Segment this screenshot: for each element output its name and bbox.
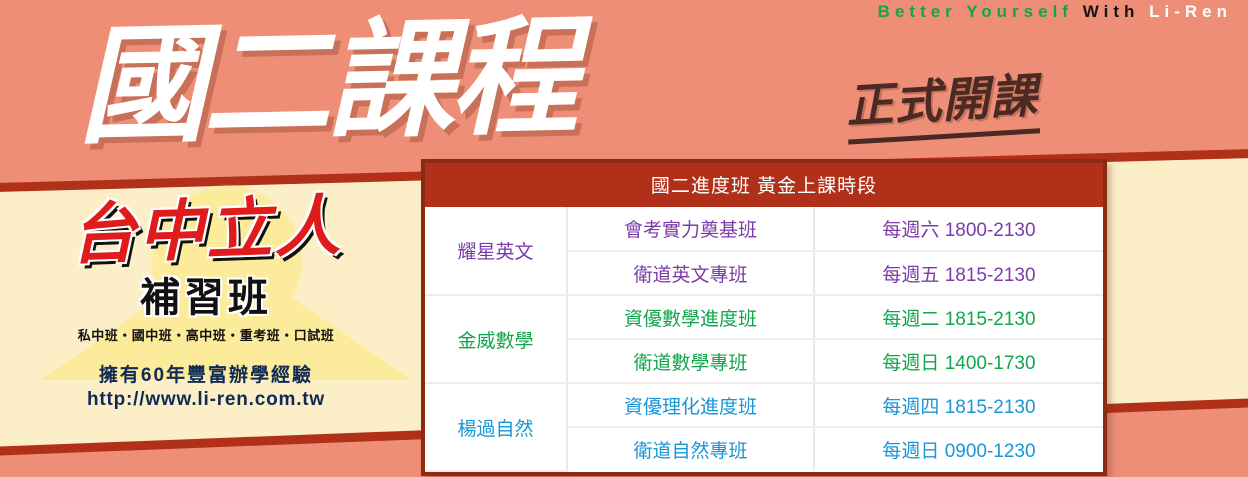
promo-banner: Better Yourself With Li-Ren 國二課程 正式開課 台中… (0, 0, 1248, 477)
school-logo-block: 台中立人 補習班 私中班・國中班・高中班・重考班・口試班 擁有60年豐富辦學經驗… (32, 196, 380, 411)
schedule-panel: 國二進度班 黃金上課時段 耀星英文會考實力奠基班每週六 1800-2130衛道英… (421, 159, 1107, 476)
logo-experience-text: 擁有60年豐富辦學經驗 (32, 360, 380, 387)
logo-class-tags: 私中班・國中班・高中班・重考班・口試班 (32, 325, 380, 344)
slogan-part-black: With (1083, 2, 1140, 21)
table-row: 金威數學資優數學進度班每週二 1815-2130 (425, 295, 1103, 339)
schedule-table: 耀星英文會考實力奠基班每週六 1800-2130衛道英文專班每週五 1815-2… (425, 207, 1103, 472)
course-name-cell: 資優數學進度班 (567, 295, 814, 339)
course-time-cell: 每週二 1815-2130 (814, 295, 1103, 339)
slogan-part-green: Better Yourself (878, 2, 1073, 21)
course-time-cell: 每週六 1800-2130 (814, 207, 1103, 251)
subject-cell: 楊過自然 (425, 383, 567, 471)
subject-cell: 耀星英文 (425, 207, 567, 295)
course-name-cell: 會考實力奠基班 (567, 207, 814, 251)
headline-subtitle: 正式開課 (844, 56, 1040, 144)
schedule-header-title: 國二進度班 黃金上課時段 (425, 163, 1103, 207)
logo-website-url[interactable]: http://www.li-ren.com.tw (32, 389, 380, 411)
headline-title: 國二課程 (77, 11, 576, 156)
logo-name-sub: 補習班 (32, 265, 380, 323)
table-row: 楊過自然資優理化進度班每週四 1815-2130 (425, 383, 1103, 427)
course-name-cell: 衛道自然專班 (567, 427, 814, 471)
course-time-cell: 每週日 0900-1230 (814, 427, 1103, 471)
course-time-cell: 每週四 1815-2130 (814, 383, 1103, 427)
logo-name-main: 台中立人 (31, 190, 381, 273)
course-time-cell: 每週日 1400-1730 (814, 339, 1103, 383)
slogan-part-white: Li-Ren (1149, 2, 1232, 21)
course-name-cell: 衛道數學專班 (567, 339, 814, 383)
course-name-cell: 衛道英文專班 (567, 251, 814, 295)
table-row: 耀星英文會考實力奠基班每週六 1800-2130 (425, 207, 1103, 251)
course-name-cell: 資優理化進度班 (567, 383, 814, 427)
brand-slogan: Better Yourself With Li-Ren (878, 2, 1232, 22)
course-time-cell: 每週五 1815-2130 (814, 251, 1103, 295)
subject-cell: 金威數學 (425, 295, 567, 383)
